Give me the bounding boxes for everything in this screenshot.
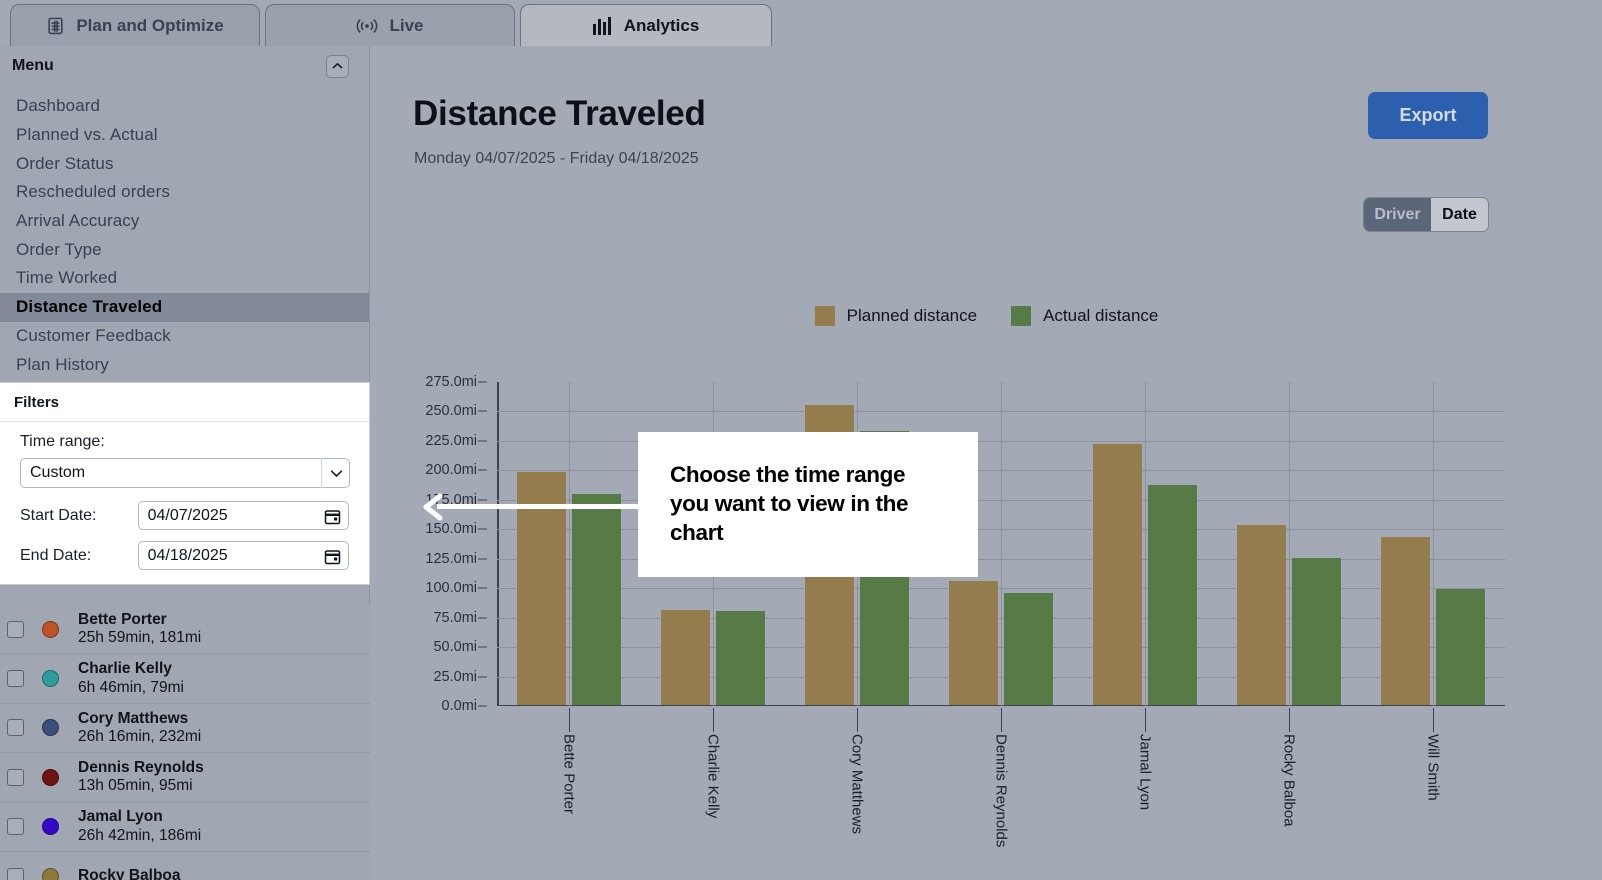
driver-color-dot [42, 868, 59, 880]
driver-stats: 26h 16min, 232mi [78, 728, 201, 746]
driver-list: Bette Porter25h 59min, 181miCharlie Kell… [0, 605, 370, 880]
driver-name: Jamal Lyon [78, 808, 201, 826]
start-date-row: Start Date: 04/07/2025 [20, 501, 349, 530]
filters-panel: Filters Time range: Custom Start Date: 0… [0, 382, 370, 585]
x-axis-tick-mark [857, 708, 858, 732]
tab-plan-and-optimize[interactable]: Plan and Optimize [10, 4, 260, 46]
driver-checkbox[interactable] [7, 719, 24, 736]
main-panel: Distance Traveled Monday 04/07/2025 - Fr… [371, 46, 1602, 880]
driver-name: Dennis Reynolds [78, 759, 204, 777]
driver-row[interactable]: Cory Matthews26h 16min, 232mi [0, 704, 370, 753]
driver-checkbox[interactable] [7, 818, 24, 835]
toggle-option-driver[interactable]: Driver [1364, 198, 1431, 231]
end-date-row: End Date: 04/18/2025 [20, 541, 349, 570]
chart-bar[interactable] [949, 581, 998, 705]
filters-title: Filters [0, 383, 369, 422]
driver-info: Dennis Reynolds13h 05min, 95mi [78, 759, 204, 796]
y-axis-tick-mark [478, 588, 487, 589]
chart-bar[interactable] [716, 611, 765, 704]
sidebar-item-label: Rescheduled orders [16, 182, 170, 202]
group-by-toggle: Driver Date [1364, 198, 1488, 231]
callout-text: Choose the time range you want to view i… [670, 461, 946, 547]
start-date-value: 04/07/2025 [148, 507, 228, 525]
chart-bar[interactable] [572, 494, 621, 705]
driver-name: Rocky Balboa [78, 867, 181, 880]
driver-info: Bette Porter25h 59min, 181mi [78, 611, 201, 648]
chart-bar[interactable] [1381, 537, 1430, 704]
sidebar-item-label: Customer Feedback [16, 326, 171, 346]
y-axis-tick-label: 100.0mi [425, 580, 477, 596]
y-axis-tick-mark [478, 529, 487, 530]
sidebar-collapse-button[interactable] [326, 55, 349, 78]
driver-row[interactable]: Dennis Reynolds13h 05min, 95mi [0, 753, 370, 802]
gridline-vertical [1001, 382, 1002, 706]
sidebar-item-label: Distance Traveled [16, 297, 162, 317]
sidebar-item-label: Arrival Accuracy [16, 211, 139, 231]
legend-item[interactable]: Planned distance [815, 306, 977, 326]
chart-bar[interactable] [1436, 589, 1485, 704]
legend-label: Actual distance [1043, 306, 1158, 326]
y-axis-tick-mark [478, 470, 487, 471]
calendar-icon[interactable] [322, 546, 342, 566]
tab-label: Plan and Optimize [76, 16, 223, 36]
driver-info: Charlie Kelly6h 46min, 79mi [78, 660, 184, 697]
y-axis-tick-mark [478, 440, 487, 441]
x-axis-tick-mark [1145, 708, 1146, 732]
export-button[interactable]: Export [1368, 92, 1488, 139]
legend-item[interactable]: Actual distance [1011, 306, 1158, 326]
y-axis-tick-label: 225.0mi [425, 433, 477, 449]
driver-row[interactable]: Jamal Lyon26h 42min, 186mi [0, 803, 370, 852]
start-date-input[interactable]: 04/07/2025 [138, 501, 349, 530]
x-axis-tick-mark [1289, 708, 1290, 732]
sidebar-item-time-worked[interactable]: Time Worked [0, 264, 369, 293]
driver-info: Rocky Balboa [78, 867, 181, 880]
top-tab-bar: Plan and Optimize Live Anal [0, 0, 1602, 46]
x-axis-tick-label: Dennis Reynolds [993, 734, 1010, 847]
chevron-up-icon [332, 57, 343, 75]
sidebar-item-label: Dashboard [16, 96, 100, 116]
gridline-vertical [1289, 382, 1290, 706]
driver-checkbox[interactable] [7, 769, 24, 786]
driver-name: Cory Matthews [78, 710, 201, 728]
driver-stats: 13h 05min, 95mi [78, 777, 204, 795]
y-axis-tick-label: 25.0mi [433, 669, 477, 685]
y-axis-tick-mark [478, 647, 487, 648]
chart-bar[interactable] [1148, 485, 1197, 704]
driver-info: Jamal Lyon26h 42min, 186mi [78, 808, 201, 845]
x-axis-tick-label: Bette Porter [561, 734, 578, 814]
x-axis-tick-mark [569, 708, 570, 732]
y-axis-tick-mark [478, 617, 487, 618]
x-axis-tick-label: Cory Matthews [849, 734, 866, 834]
x-axis-tick-mark [1433, 708, 1434, 732]
app-root: Plan and Optimize Live Anal [0, 0, 1602, 880]
chart-bar[interactable] [1093, 444, 1142, 704]
arrow-left-icon [423, 493, 453, 526]
x-axis-tick-label: Rocky Balboa [1281, 734, 1298, 827]
legend-label: Planned distance [847, 306, 977, 326]
chart-bar[interactable] [1237, 525, 1286, 704]
driver-checkbox[interactable] [7, 868, 24, 880]
y-axis-tick-label: 50.0mi [433, 639, 477, 655]
chart-bar[interactable] [661, 610, 710, 704]
chart-bar[interactable] [1292, 558, 1341, 704]
driver-checkbox[interactable] [7, 621, 24, 638]
y-axis-tick-mark [478, 676, 487, 677]
y-axis-tick-mark [478, 558, 487, 559]
driver-stats: 25h 59min, 181mi [78, 629, 201, 647]
sidebar-item-plan-history[interactable]: Plan History [0, 350, 369, 379]
tab-analytics[interactable]: Analytics [520, 4, 772, 46]
y-axis-tick-label: 0.0mi [442, 698, 477, 714]
driver-stats: 26h 42min, 186mi [78, 827, 201, 845]
driver-row[interactable]: Bette Porter25h 59min, 181mi [0, 605, 370, 654]
sidebar-item-label: Plan History [16, 355, 109, 375]
chevron-down-icon[interactable] [321, 458, 350, 488]
tab-label: Live [389, 16, 423, 36]
driver-color-dot [42, 818, 59, 835]
x-axis-tick-label: Jamal Lyon [1137, 734, 1154, 810]
legend-swatch [815, 306, 835, 326]
legend-swatch [1011, 306, 1031, 326]
sidebar-item-planned-vs-actual[interactable]: Planned vs. Actual [0, 121, 369, 150]
sidebar-item-label: Order Type [16, 240, 102, 260]
page-title: Distance Traveled [413, 94, 706, 134]
sidebar-item-order-type[interactable]: Order Type [0, 235, 369, 264]
sidebar-item-customer-feedback[interactable]: Customer Feedback [0, 322, 369, 351]
sidebar-item-label: Time Worked [16, 268, 117, 288]
bar-chart-icon [593, 17, 613, 35]
end-date-label: End Date: [20, 547, 138, 565]
y-axis-tick-label: 275.0mi [425, 374, 477, 390]
driver-stats: 6h 46min, 79mi [78, 679, 184, 697]
calendar-icon [46, 16, 65, 35]
x-axis-tick-mark [713, 708, 714, 732]
callout-tooltip: Choose the time range you want to view i… [638, 432, 978, 577]
sidebar-header: Menu [0, 46, 369, 86]
start-date-label: Start Date: [20, 507, 138, 525]
y-axis-tick-mark [478, 499, 487, 500]
toggle-option-date[interactable]: Date [1431, 198, 1488, 231]
driver-color-dot [42, 719, 59, 736]
calendar-icon[interactable] [322, 506, 342, 526]
gridline-vertical [1433, 382, 1434, 706]
chart-bar[interactable] [1004, 593, 1053, 705]
sidebar-item-rescheduled-orders[interactable]: Rescheduled orders [0, 178, 369, 207]
driver-name: Charlie Kelly [78, 660, 184, 678]
y-axis-tick-label: 200.0mi [425, 462, 477, 478]
time-range-select-wrap: Custom [20, 458, 350, 488]
sidebar-menu-list: DashboardPlanned vs. ActualOrder StatusR… [0, 86, 369, 379]
chart-legend: Planned distanceActual distance [371, 306, 1602, 326]
y-axis-line [497, 382, 499, 706]
sidebar-item-arrival-accuracy[interactable]: Arrival Accuracy [0, 207, 369, 236]
x-axis-labels: Bette PorterCharlie KellyCory MatthewsDe… [497, 708, 1505, 858]
y-axis-tick-label: 75.0mi [433, 610, 477, 626]
y-axis-tick-mark [478, 382, 487, 383]
time-range-label: Time range: [20, 433, 349, 451]
sidebar-item-label: Planned vs. Actual [16, 125, 158, 145]
sidebar-item-distance-traveled[interactable]: Distance Traveled [0, 293, 369, 322]
sidebar-item-dashboard[interactable]: Dashboard [0, 92, 369, 121]
broadcast-icon [356, 17, 378, 35]
driver-info: Cory Matthews26h 16min, 232mi [78, 710, 201, 747]
y-axis-tick-label: 125.0mi [425, 551, 477, 567]
x-axis-tick-mark [1001, 708, 1002, 732]
x-axis-tick-label: Will Smith [1425, 734, 1442, 801]
driver-checkbox[interactable] [7, 670, 24, 687]
driver-color-dot [42, 621, 59, 638]
y-axis-tick-mark [478, 706, 487, 707]
y-axis: 0.0mi25.0mi50.0mi75.0mi100.0mi125.0mi150… [415, 382, 487, 706]
driver-color-dot [42, 769, 59, 786]
driver-name: Bette Porter [78, 611, 201, 629]
time-range-select[interactable]: Custom [20, 458, 350, 488]
tab-live[interactable]: Live [265, 4, 515, 46]
y-axis-tick-label: 250.0mi [425, 403, 477, 419]
filters-body: Time range: Custom Start Date: 04/07/202… [0, 422, 369, 584]
driver-row[interactable]: Rocky Balboa [0, 852, 370, 880]
sidebar-item-label: Order Status [16, 154, 114, 174]
end-date-input[interactable]: 04/18/2025 [138, 541, 349, 570]
driver-row[interactable]: Charlie Kelly6h 46min, 79mi [0, 654, 370, 703]
menu-title: Menu [12, 57, 54, 75]
tab-label: Analytics [624, 16, 700, 36]
driver-color-dot [42, 670, 59, 687]
sidebar-item-order-status[interactable]: Order Status [0, 149, 369, 178]
gridline-vertical [1145, 382, 1146, 706]
x-axis-tick-label: Charlie Kelly [705, 734, 722, 818]
gridline-vertical [569, 382, 570, 706]
end-date-value: 04/18/2025 [148, 547, 228, 565]
y-axis-tick-mark [478, 411, 487, 412]
callout-arrow-line [437, 504, 642, 509]
page-date-range: Monday 04/07/2025 - Friday 04/18/2025 [414, 150, 699, 168]
